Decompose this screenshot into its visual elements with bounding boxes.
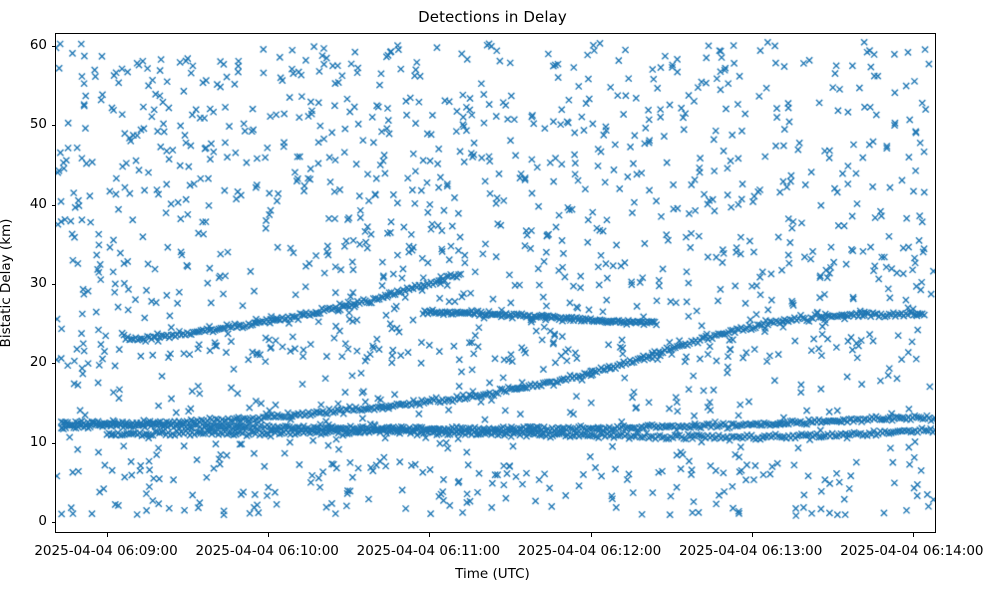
x-tick-label: 2025-04-04 06:11:00 (357, 543, 500, 559)
x-tick-label: 2025-04-04 06:13:00 (679, 543, 822, 559)
y-tick-mark (52, 363, 57, 364)
y-tick-label: 40 (0, 196, 47, 212)
y-tick-label: 30 (0, 275, 47, 291)
x-tick-mark (429, 532, 430, 537)
x-tick-mark (913, 532, 914, 537)
x-tick-mark (752, 532, 753, 537)
y-tick-mark (52, 443, 57, 444)
y-tick-label: 20 (0, 354, 47, 370)
y-tick-mark (52, 284, 57, 285)
y-axis-label-wrapper: Bistatic Delay (km) (22, 0, 42, 590)
matplotlib-figure: Detections in Delay Bistatic Delay (km) … (0, 0, 985, 590)
y-tick-label: 60 (0, 37, 47, 53)
x-tick-mark (591, 532, 592, 537)
y-tick-mark (52, 522, 57, 523)
y-tick-label: 10 (0, 434, 47, 450)
y-tick-mark (52, 46, 57, 47)
x-axis-label: Time (UTC) (0, 566, 985, 582)
x-tick-mark (268, 532, 269, 537)
x-tick-label: 2025-04-04 06:09:00 (34, 543, 177, 559)
x-tick-label: 2025-04-04 06:10:00 (195, 543, 338, 559)
x-tick-label: 2025-04-04 06:12:00 (518, 543, 661, 559)
scatter-plot-canvas (56, 34, 935, 532)
y-tick-mark (52, 125, 57, 126)
y-tick-label: 50 (0, 116, 47, 132)
y-tick-label: 0 (0, 513, 47, 529)
x-tick-label: 2025-04-04 06:14:00 (840, 543, 983, 559)
plot-axes (55, 33, 936, 533)
x-tick-mark (107, 532, 108, 537)
y-tick-mark (52, 205, 57, 206)
chart-title: Detections in Delay (0, 8, 985, 26)
